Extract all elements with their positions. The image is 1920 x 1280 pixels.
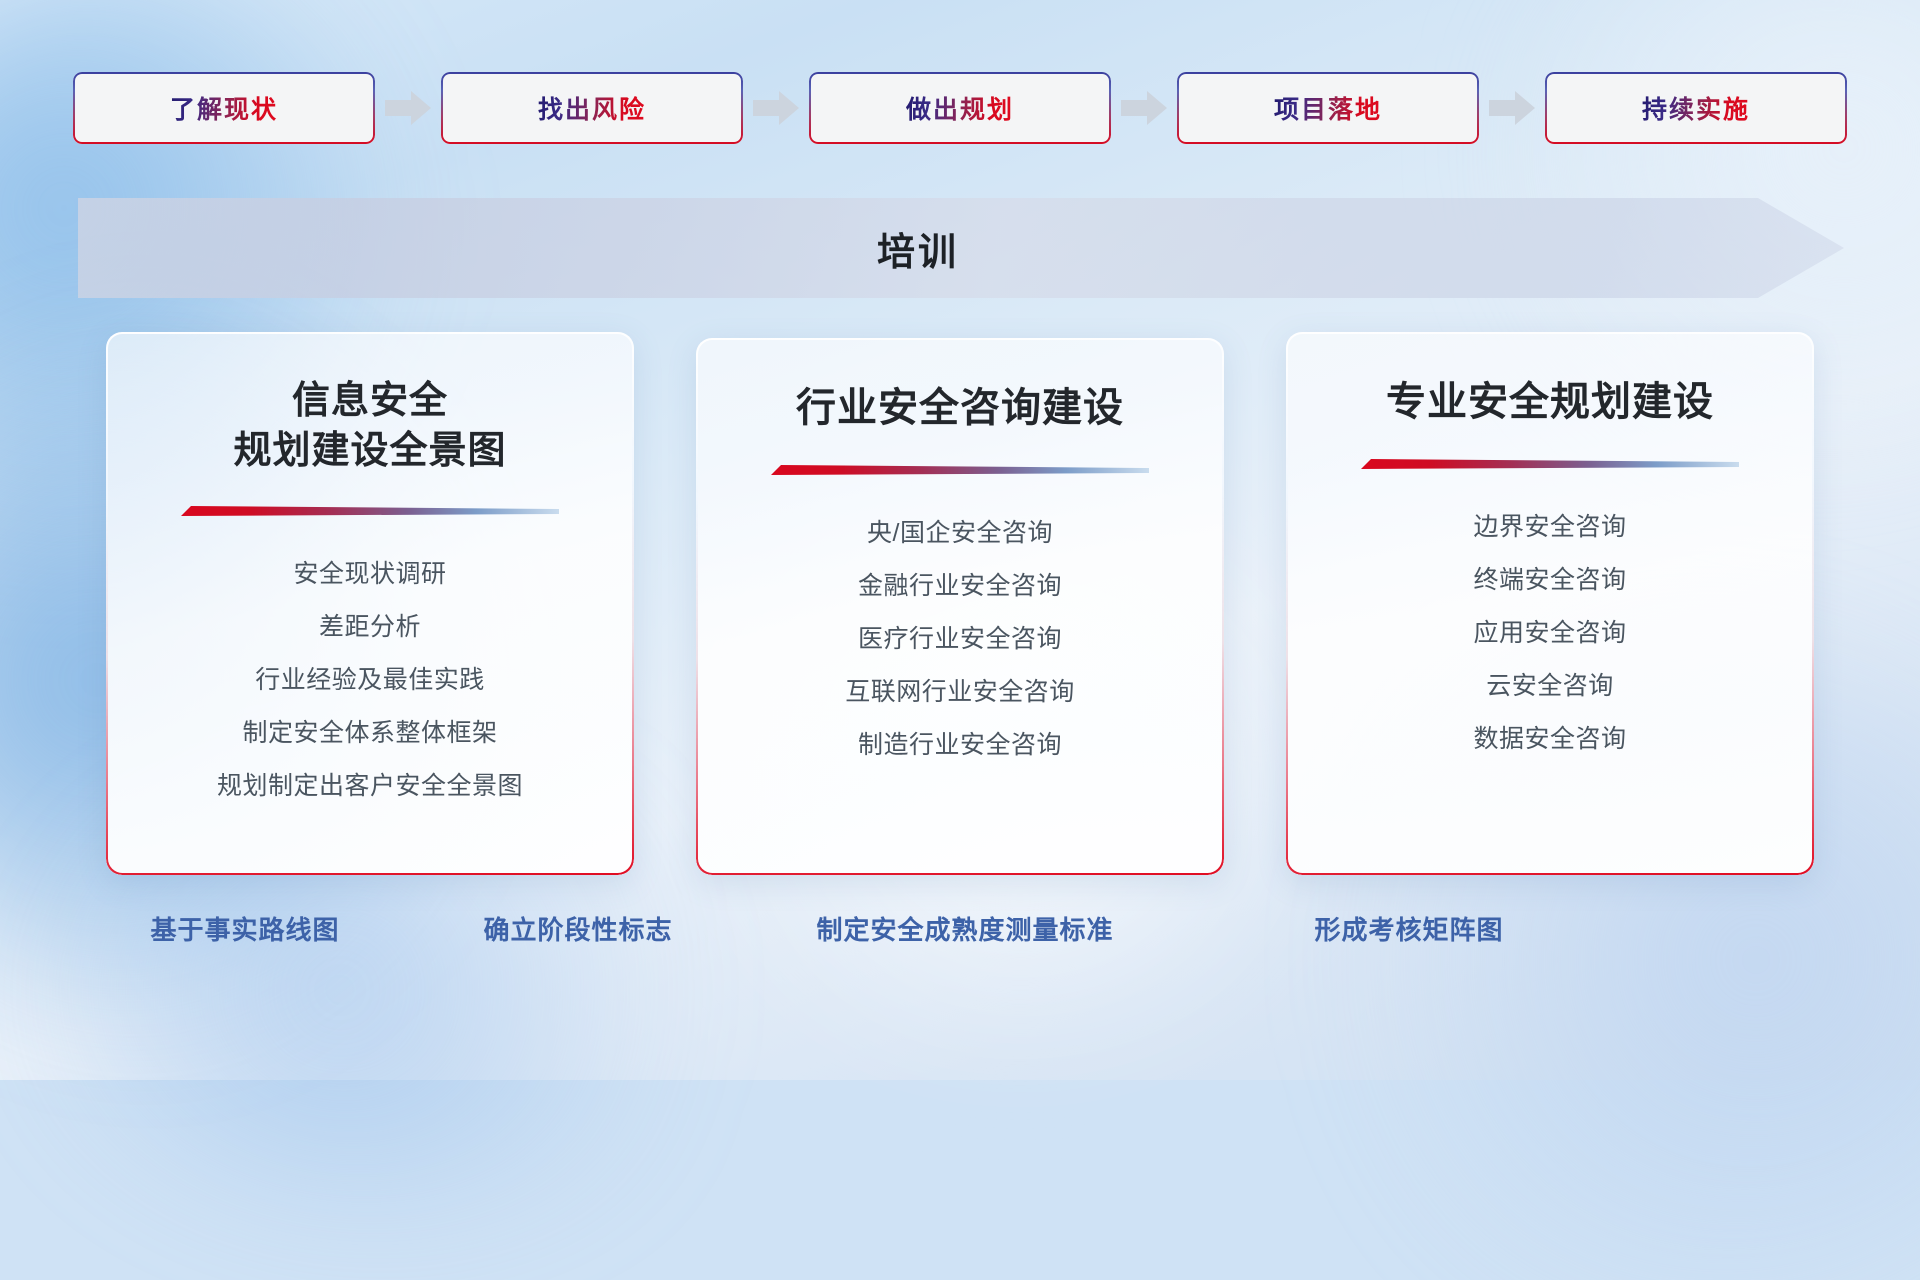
gradient-wedge-divider-icon xyxy=(181,502,559,524)
list-item: 央/国企安全咨询 xyxy=(730,521,1190,546)
list-item: 制造行业安全咨询 xyxy=(730,733,1190,758)
gradient-wedge-divider-icon xyxy=(1361,455,1739,477)
process-step-5[interactable]: 持续实施 xyxy=(1545,72,1847,144)
list-item: 互联网行业安全咨询 xyxy=(730,680,1190,705)
card-item-list: 边界安全咨询 终端安全咨询 应用安全咨询 云安全咨询 数据安全咨询 xyxy=(1320,515,1780,752)
list-item: 云安全咨询 xyxy=(1320,674,1780,699)
process-step-label: 做出规划 xyxy=(906,90,1014,126)
list-item: 边界安全咨询 xyxy=(1320,515,1780,540)
list-item: 差距分析 xyxy=(140,615,600,640)
chevron-right-arrow-icon xyxy=(1111,72,1177,144)
list-item: 终端安全咨询 xyxy=(1320,568,1780,593)
list-item: 数据安全咨询 xyxy=(1320,727,1780,752)
process-step-4[interactable]: 项目落地 xyxy=(1177,72,1479,144)
card-title-line: 专业安全规划建设 xyxy=(1386,380,1714,424)
list-item: 安全现状调研 xyxy=(140,562,600,587)
card-professional-security-planning[interactable]: 专业安全规划建设 xyxy=(1286,332,1814,875)
training-banner: 培训 xyxy=(78,198,1844,298)
caption-row: 基于事实路线图 确立阶段性标志 制定安全成熟度测量标准 形成考核矩阵图 xyxy=(0,910,1920,958)
chevron-right-arrow-icon xyxy=(743,72,809,144)
process-step-1[interactable]: 了解现状 xyxy=(73,72,375,144)
process-step-label: 项目落地 xyxy=(1274,90,1382,126)
gradient-wedge-divider-icon xyxy=(771,461,1149,483)
list-item: 行业经验及最佳实践 xyxy=(140,668,600,693)
training-banner-title: 培训 xyxy=(78,198,1844,298)
card-industry-security-consulting[interactable]: 行业安全咨询建设 xyxy=(696,338,1224,875)
process-step-label: 找出风险 xyxy=(538,90,646,126)
process-step-label: 了解现状 xyxy=(170,90,278,126)
caption-assessment-matrix: 形成考核矩阵图 xyxy=(1314,910,1503,947)
list-item: 医疗行业安全咨询 xyxy=(730,627,1190,652)
card-title-line: 信息安全 xyxy=(292,380,448,422)
card-title: 行业安全咨询建设 xyxy=(796,382,1124,435)
list-item: 规划制定出客户安全全景图 xyxy=(140,774,600,799)
process-step-2[interactable]: 找出风险 xyxy=(441,72,743,144)
list-item: 应用安全咨询 xyxy=(1320,621,1780,646)
process-step-3[interactable]: 做出规划 xyxy=(809,72,1111,144)
chevron-right-arrow-icon xyxy=(1479,72,1545,144)
chevron-right-arrow-icon xyxy=(375,72,441,144)
caption-maturity-standard: 制定安全成熟度测量标准 xyxy=(816,910,1113,947)
card-information-security-panorama[interactable]: 信息安全 规划建设全景图 xyxy=(106,332,634,875)
caption-fact-roadmap: 基于事实路线图 xyxy=(150,910,339,947)
card-item-list: 安全现状调研 差距分析 行业经验及最佳实践 制定安全体系整体框架 规划制定出客户… xyxy=(140,562,600,799)
card-title: 专业安全规划建设 xyxy=(1386,376,1714,429)
card-item-list: 央/国企安全咨询 金融行业安全咨询 医疗行业安全咨询 互联网行业安全咨询 制造行… xyxy=(730,521,1190,758)
card-title-line: 规划建设全景图 xyxy=(233,430,506,472)
card-title-line: 行业安全咨询建设 xyxy=(796,386,1124,430)
list-item: 金融行业安全咨询 xyxy=(730,574,1190,599)
card-title: 信息安全 规划建设全景图 xyxy=(233,376,506,476)
list-item: 制定安全体系整体框架 xyxy=(140,721,600,746)
caption-phase-milestone: 确立阶段性标志 xyxy=(483,910,672,947)
process-step-label: 持续实施 xyxy=(1642,90,1750,126)
card-row: 信息安全 规划建设全景图 xyxy=(0,332,1920,875)
process-step-row: 了解现状 找出风险 做出规划 项目落地 持续实施 xyxy=(0,72,1920,144)
